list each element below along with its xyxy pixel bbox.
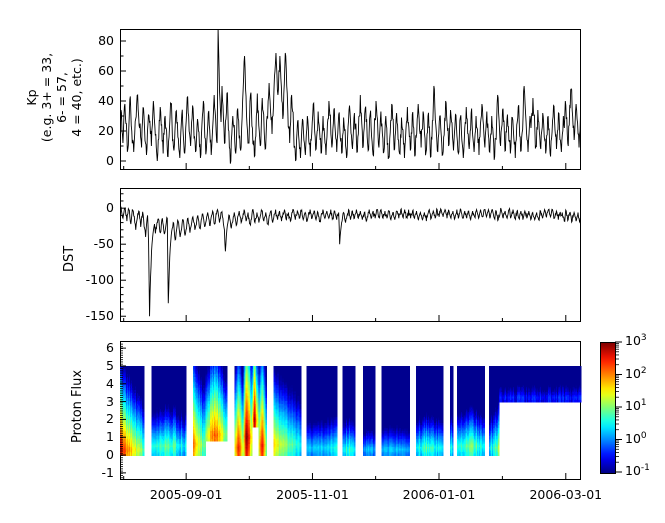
xtick-2006-01-01: 2006-01-01 xyxy=(384,487,494,502)
pf-ytick-6: 6 xyxy=(84,340,114,355)
colorbar-tick--1: 10-1 xyxy=(625,463,650,478)
dst-ytick--100: -100 xyxy=(72,272,114,287)
dst-ytick-0: 0 xyxy=(72,200,114,215)
pf-ytick-5: 5 xyxy=(84,358,114,373)
dst-ytick--150: -150 xyxy=(72,308,114,323)
dst-ytick--50: -50 xyxy=(72,236,114,251)
xtick-2005-09-01: 2005-09-01 xyxy=(131,487,241,502)
colorbar-ticks xyxy=(0,0,665,523)
colorbar-tick-3: 103 xyxy=(625,333,647,348)
pf-ytick-0: 0 xyxy=(84,447,114,462)
colorbar-tick-1: 101 xyxy=(625,398,647,413)
pf-ytick-4: 4 xyxy=(84,376,114,391)
xtick-2005-11-01: 2005-11-01 xyxy=(257,487,367,502)
kp-ytick-0: 0 xyxy=(78,153,114,168)
figure-canvas: Kp(e.g. 3+ = 33,6- = 57,4 = 40, etc.) DS… xyxy=(0,0,665,523)
pf-ytick-2: 2 xyxy=(84,411,114,426)
xtick-2006-03-01: 2006-03-01 xyxy=(511,487,621,502)
kp-ytick-20: 20 xyxy=(78,123,114,138)
kp-ytick-40: 40 xyxy=(78,93,114,108)
kp-ytick-60: 60 xyxy=(78,63,114,78)
pf-ytick-3: 3 xyxy=(84,394,114,409)
kp-ytick-80: 80 xyxy=(78,33,114,48)
colorbar-tick-2: 102 xyxy=(625,366,647,381)
pf-ytick-1: 1 xyxy=(84,429,114,444)
pf-ytick--1: -1 xyxy=(84,465,114,480)
colorbar-tick-0: 100 xyxy=(625,431,647,446)
